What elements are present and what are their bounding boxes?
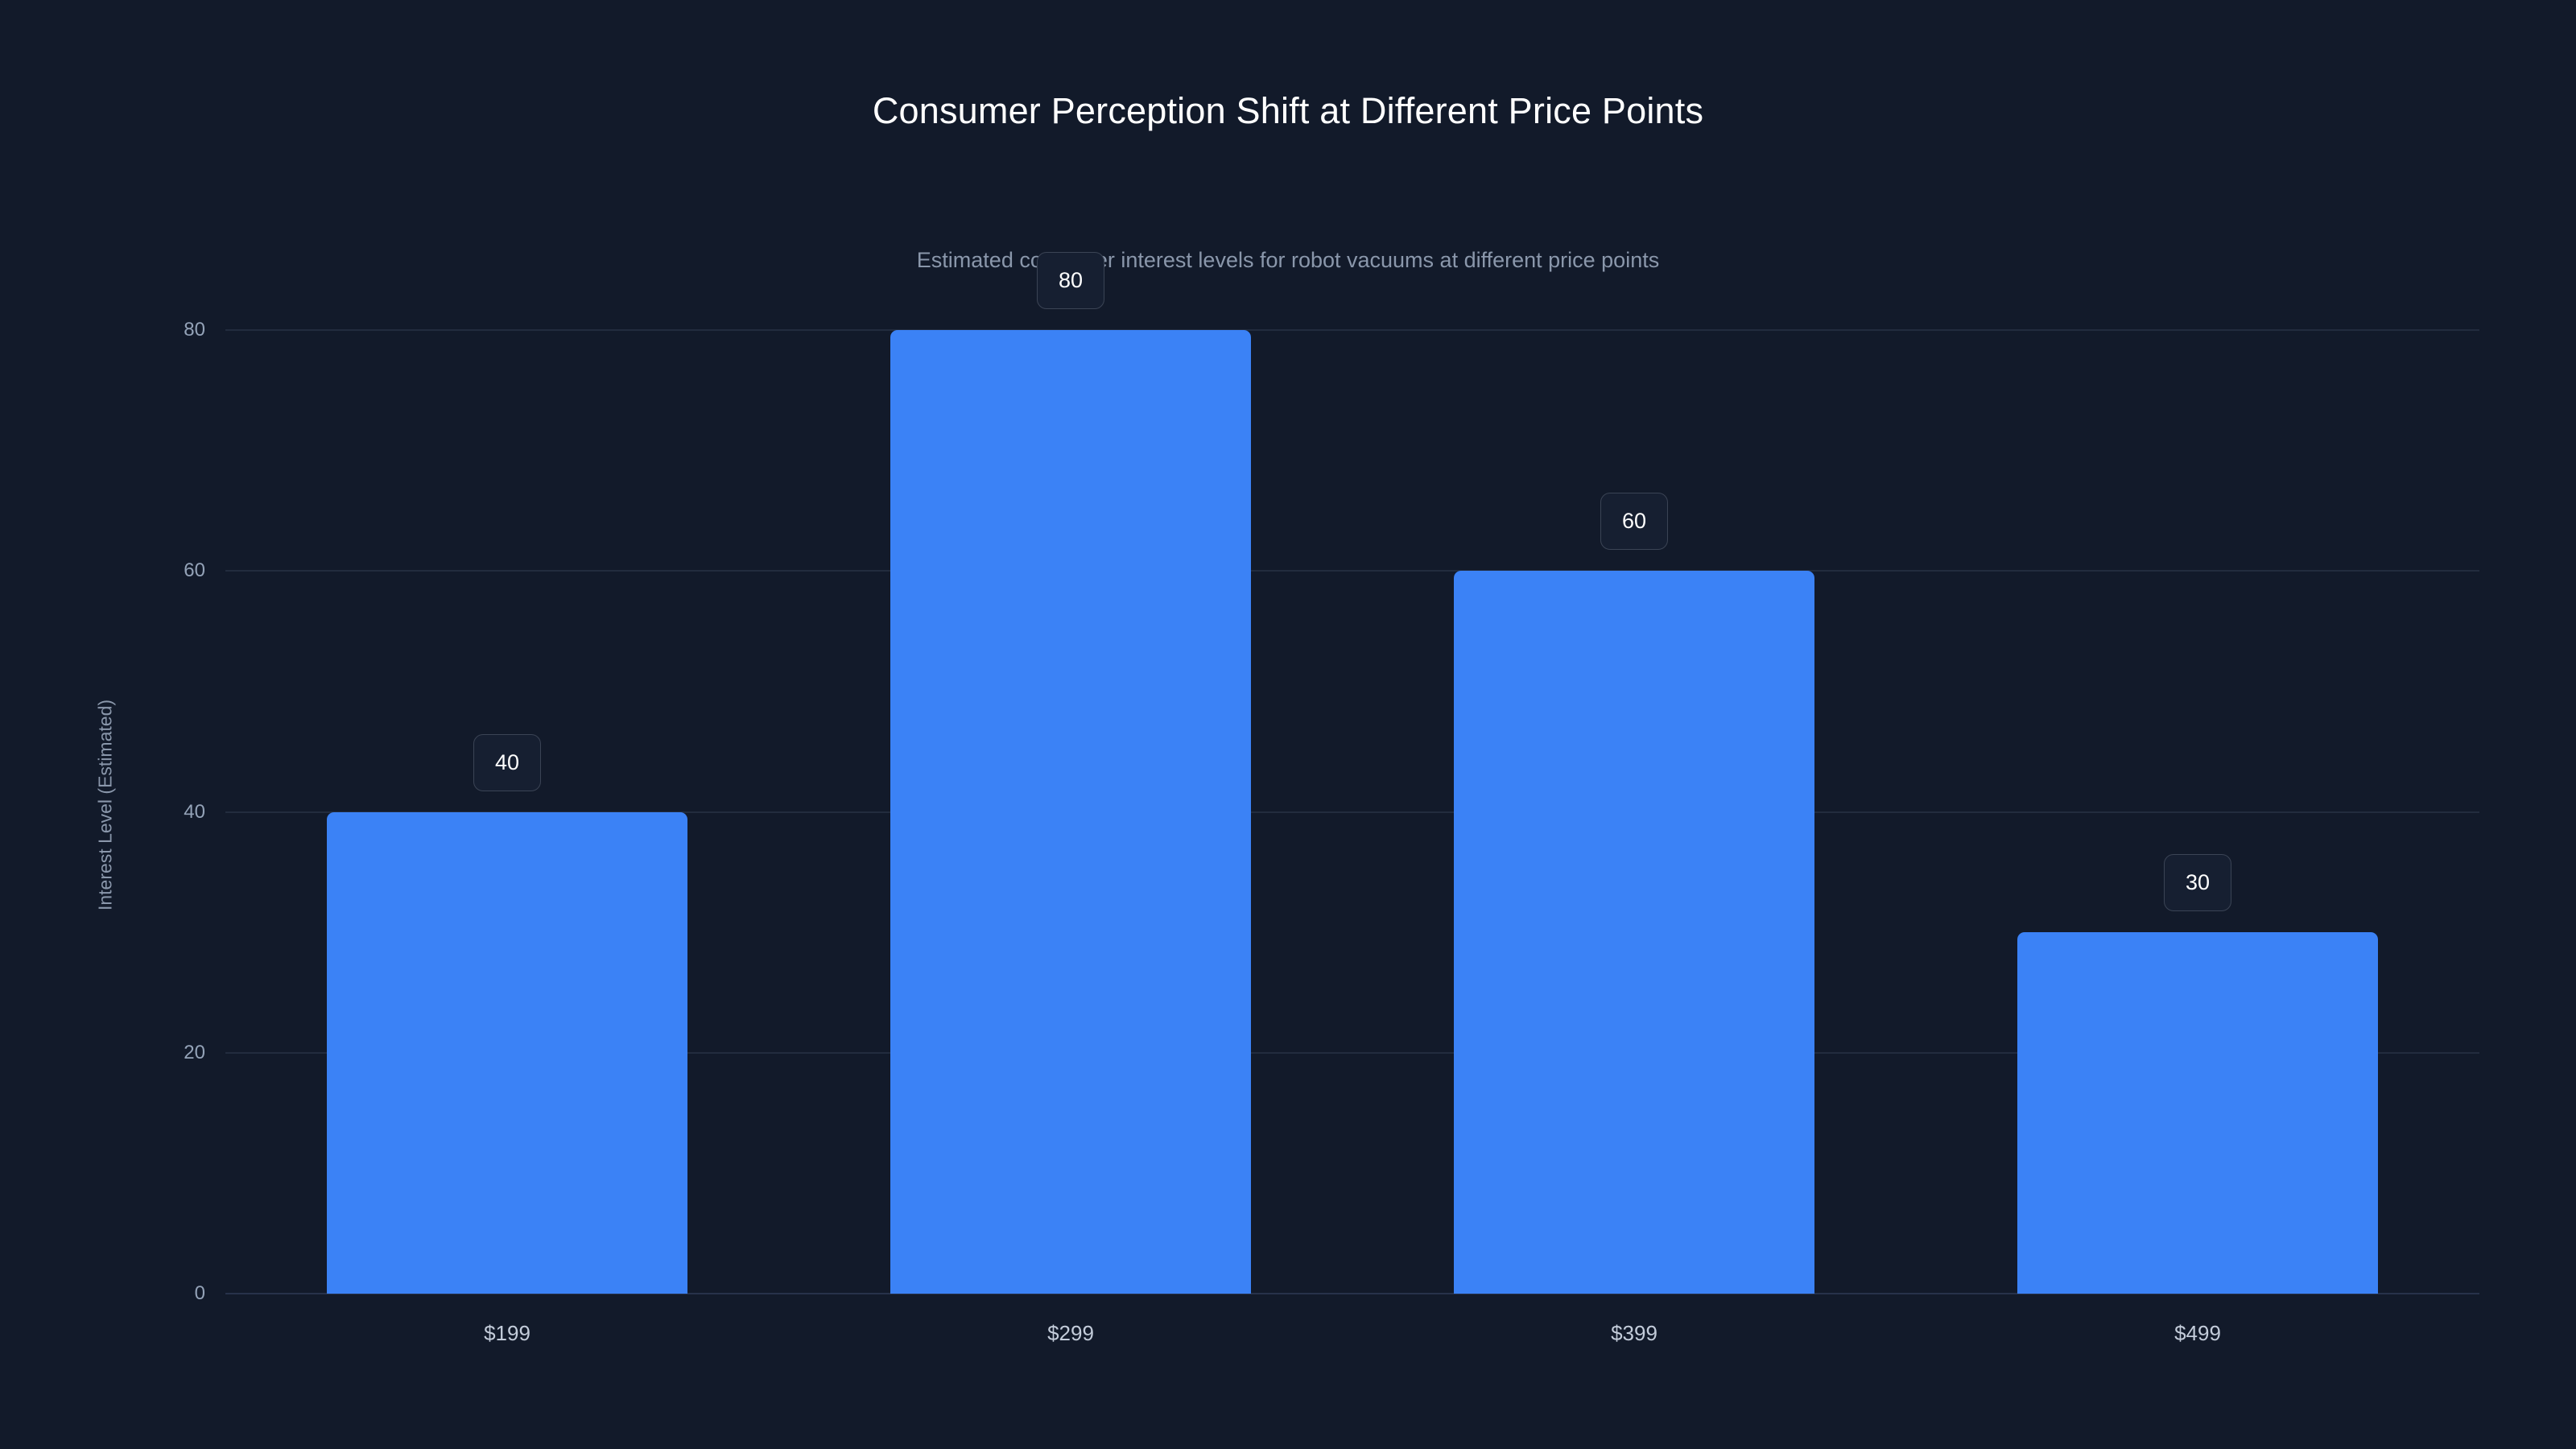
- x-axis-tick-label: $199: [484, 1323, 530, 1344]
- bar-value-label: 40: [473, 734, 541, 791]
- plot-area: 020406080: [225, 330, 2479, 1294]
- bar[interactable]: [327, 812, 687, 1294]
- chart-subtitle: Estimated consumer interest levels for r…: [0, 250, 2576, 271]
- y-axis-tick-label: 80: [32, 320, 205, 340]
- gridline: [225, 329, 2479, 331]
- bar-chart-figure: Consumer Perception Shift at Different P…: [0, 0, 2576, 1449]
- y-axis-tick-label: 60: [32, 561, 205, 580]
- bar[interactable]: [1454, 571, 1814, 1294]
- y-axis-tick-label: 0: [32, 1284, 205, 1303]
- bar[interactable]: [2017, 932, 2378, 1294]
- bar-value-label: 80: [1037, 252, 1104, 309]
- x-axis-tick-label: $399: [1611, 1323, 1657, 1344]
- bar-value-label: 30: [2164, 854, 2231, 911]
- bar[interactable]: [890, 330, 1251, 1294]
- bar-value-label: 60: [1600, 493, 1668, 550]
- gridline: [225, 570, 2479, 572]
- y-axis-tick-label: 40: [32, 803, 205, 822]
- x-axis-tick-label: $299: [1047, 1323, 1094, 1344]
- chart-title: Consumer Perception Shift at Different P…: [0, 93, 2576, 129]
- y-axis-tick-label: 20: [32, 1043, 205, 1063]
- x-axis-tick-label: $499: [2174, 1323, 2221, 1344]
